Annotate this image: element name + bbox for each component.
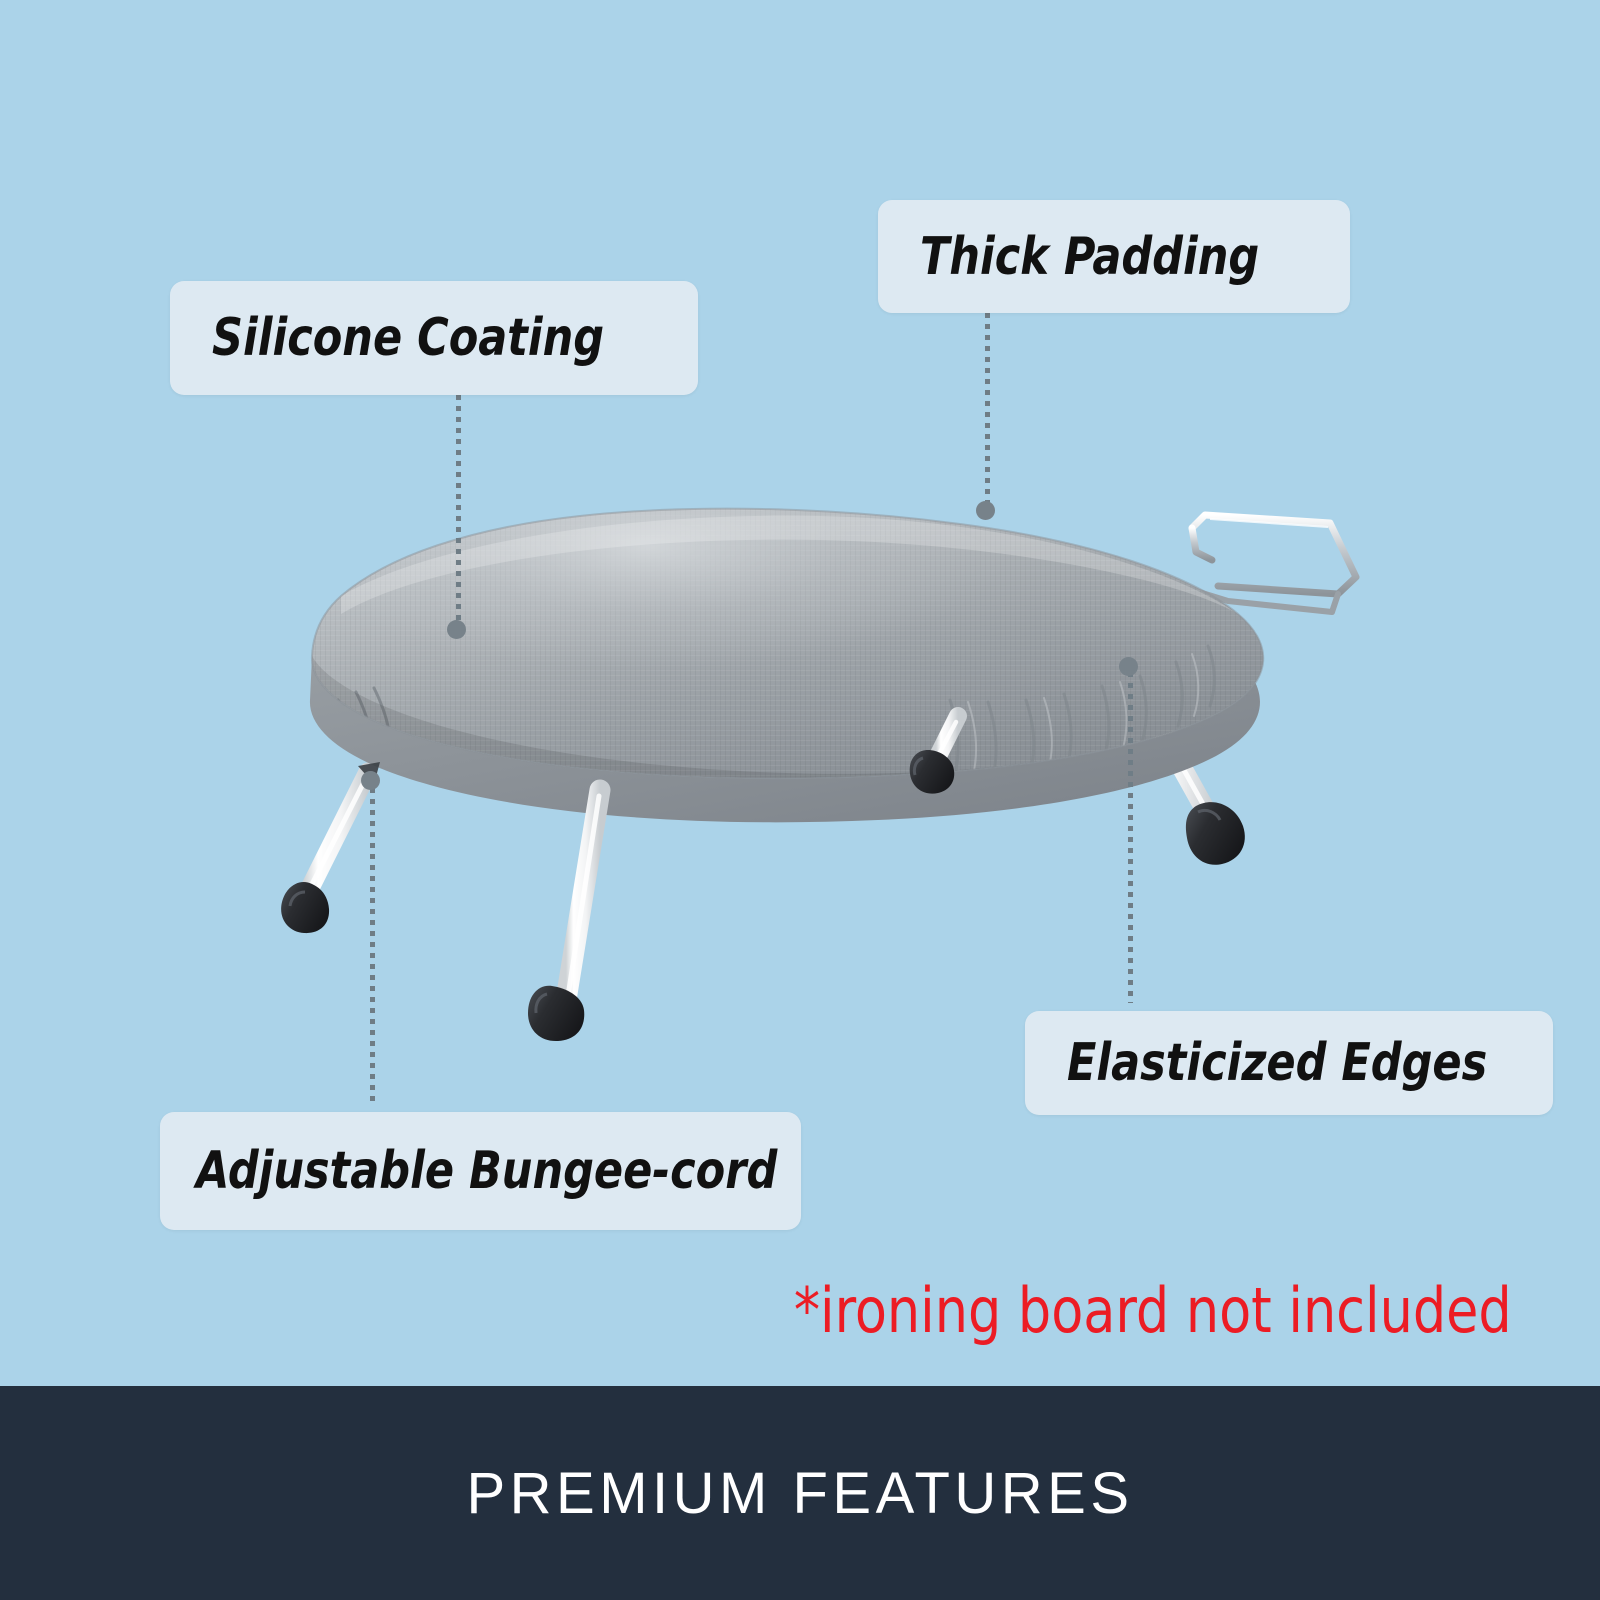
bottom-banner: PREMIUM FEATURES (0, 1386, 1600, 1600)
leader-line-elasticized-edges (1128, 672, 1133, 1003)
callout-label-thick-padding: Thick Padding (920, 231, 1259, 283)
callout-label-adjustable-bungee-cord: Adjustable Bungee-cord (196, 1145, 777, 1197)
leader-dot-silicone-coating (447, 620, 466, 639)
callout-thick-padding[interactable]: Thick Padding (878, 200, 1350, 313)
callout-label-silicone-coating: Silicone Coating (212, 312, 604, 364)
leader-line-silicone-coating (456, 395, 461, 624)
banner-title: PREMIUM FEATURES (466, 1460, 1133, 1527)
leader-dot-thick-padding (976, 501, 995, 520)
leader-dot-adjustable-bungee-cord (361, 771, 380, 790)
callout-elasticized-edges[interactable]: Elasticized Edges (1025, 1011, 1553, 1115)
callout-label-elasticized-edges: Elasticized Edges (1067, 1037, 1487, 1089)
leader-line-adjustable-bungee-cord (370, 788, 375, 1106)
infographic-canvas: Silicone Coating Thick Padding Elasticiz… (0, 0, 1600, 1600)
leader-dot-elasticized-edges (1119, 657, 1138, 676)
callout-adjustable-bungee-cord[interactable]: Adjustable Bungee-cord (160, 1112, 801, 1230)
disclaimer-text: *ironing board not included (794, 1274, 1512, 1347)
leader-line-thick-padding (985, 313, 990, 508)
callout-silicone-coating[interactable]: Silicone Coating (170, 281, 698, 395)
